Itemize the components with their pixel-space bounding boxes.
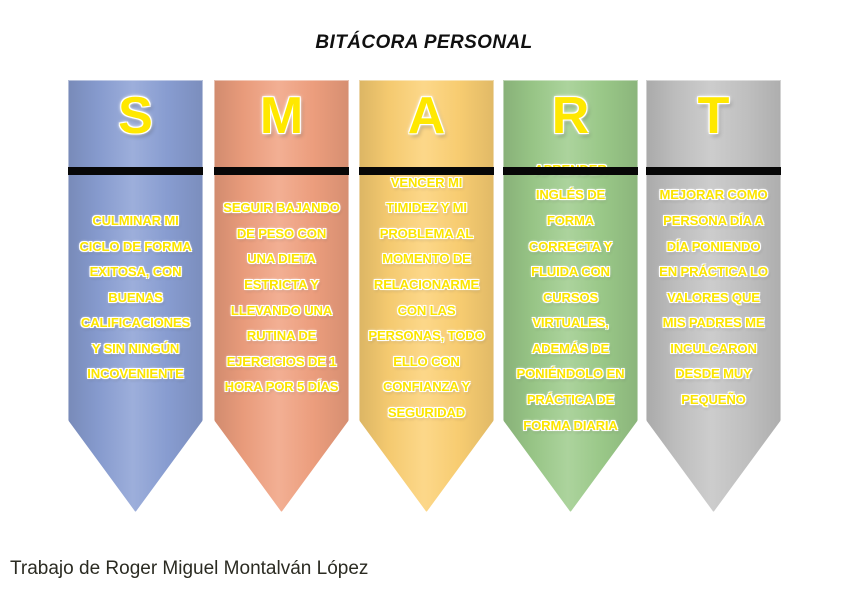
banner-letter: M	[214, 90, 349, 142]
banner-text-line: INCULCARON	[650, 336, 777, 362]
banner-body-text: CULMINAR MI CICLO DE FORMA EXITOSA, CON …	[72, 175, 199, 420]
slide-canvas: BITÁCORA PERSONAL S CULMINAR MI CICLO DE…	[0, 0, 848, 599]
banner-text-line: FORMA	[507, 208, 634, 234]
banner-text-line: EN PRÁCTICA LO	[650, 259, 777, 285]
banner-text-line: MEJORAR COMO	[650, 182, 777, 208]
banner-text-line: CORRECTA Y	[507, 234, 634, 260]
banner-letter: T	[646, 90, 781, 142]
banner-text-line: MOMENTO DE	[363, 246, 490, 272]
banner-text-line: VALORES QUE	[650, 285, 777, 311]
banner-text-line: PRÁCTICA DE	[507, 387, 634, 413]
smart-banner-t[interactable]: T MEJORAR COMO PERSONA DÍA A DÍA PONIEND…	[646, 80, 781, 512]
banner-body-text: APRENDER INGLÉS DE FORMA CORRECTA Y FLUI…	[507, 175, 634, 420]
banner-text-line: Y SIN NINGÚN	[72, 336, 199, 362]
banner-text-line: CON LAS	[363, 298, 490, 324]
banner-divider-bar	[214, 167, 349, 175]
banner-text-line: MIS PADRES ME	[650, 310, 777, 336]
banner-text-line: PERSONA DÍA A	[650, 208, 777, 234]
banner-text-line: EJERCICIOS DE 1	[218, 349, 345, 375]
banner-text-line: FORMA DIARIA	[507, 413, 634, 439]
banner-text-line: DESDE MUY	[650, 361, 777, 387]
banner-divider-bar	[646, 167, 781, 175]
banner-text-line: CONFIANZA Y	[363, 374, 490, 400]
banner-text-line: PROBLEMA AL	[363, 221, 490, 247]
banner-body-text: VENCER MI TIMIDEZ Y MI PROBLEMA AL MOMEN…	[363, 175, 490, 420]
banner-text-line: CICLO DE FORMA	[72, 234, 199, 260]
banner-text-line: SEGURIDAD	[363, 400, 490, 426]
banner-body-text: SEGUIR BAJANDO DE PESO CON UNA DIETA EST…	[218, 175, 345, 420]
banner-text-line: BUENAS	[72, 285, 199, 311]
banner-divider-bar	[503, 167, 638, 175]
banner-text-line: DÍA PONIENDO	[650, 234, 777, 260]
banner-text-line: PEQUEÑO	[650, 387, 777, 413]
banner-body-text: MEJORAR COMO PERSONA DÍA A DÍA PONIENDO …	[650, 175, 777, 420]
banner-text-line: ESTRICTA Y	[218, 272, 345, 298]
banner-text-line: ELLO CON	[363, 349, 490, 375]
banner-text-line: RELACIONARME	[363, 272, 490, 298]
banner-text-line: ADEMÁS DE	[507, 336, 634, 362]
banner-text-line: SEGUIR BAJANDO	[218, 195, 345, 221]
banner-text-line: INCOVENIENTE	[72, 361, 199, 387]
banner-letter: S	[68, 90, 203, 142]
banner-text-line: UNA DIETA	[218, 246, 345, 272]
banner-text-line: INGLÉS DE	[507, 182, 634, 208]
banner-text-line: LLEVANDO UNA	[218, 298, 345, 324]
banner-text-line: CULMINAR MI	[72, 208, 199, 234]
banner-divider-bar	[68, 167, 203, 175]
banner-letter: R	[503, 90, 638, 142]
banner-text-line: VIRTUALES,	[507, 310, 634, 336]
banner-text-line: PERSONAS, TODO	[363, 323, 490, 349]
smart-banner-a[interactable]: A VENCER MI TIMIDEZ Y MI PROBLEMA AL MOM…	[359, 80, 494, 512]
banner-text-line: CALIFICACIONES	[72, 310, 199, 336]
banner-text-line: FLUIDA CON	[507, 259, 634, 285]
banner-text-line: CURSOS	[507, 285, 634, 311]
smart-banner-s[interactable]: S CULMINAR MI CICLO DE FORMA EXITOSA, CO…	[68, 80, 203, 512]
banner-text-line: PONIÉNDOLO EN	[507, 361, 634, 387]
smart-banner-r[interactable]: R APRENDER INGLÉS DE FORMA CORRECTA Y FL…	[503, 80, 638, 512]
smart-banner-group: S CULMINAR MI CICLO DE FORMA EXITOSA, CO…	[68, 80, 782, 512]
banner-text-line: RUTINA DE	[218, 323, 345, 349]
page-title: BITÁCORA PERSONAL	[0, 32, 848, 54]
banner-letter: A	[359, 90, 494, 142]
banner-text-line: HORA POR 5 DÍAS	[218, 374, 345, 400]
banner-divider-bar	[359, 167, 494, 175]
banner-text-line: TIMIDEZ Y MI	[363, 195, 490, 221]
banner-text-line: EXITOSA, CON	[72, 259, 199, 285]
author-credit: Trabajo de Roger Miguel Montalván López	[10, 558, 368, 580]
smart-banner-m[interactable]: M SEGUIR BAJANDO DE PESO CON UNA DIETA E…	[214, 80, 349, 512]
banner-text-line: DE PESO CON	[218, 221, 345, 247]
